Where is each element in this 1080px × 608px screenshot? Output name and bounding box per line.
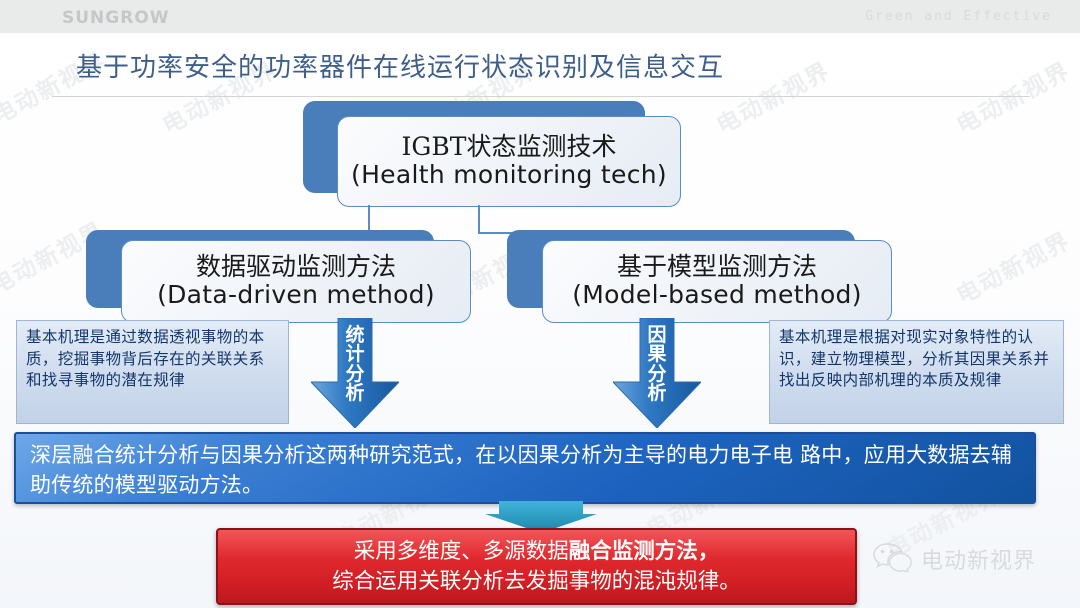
sungrow-logo: SUNGROW <box>62 8 170 28</box>
statistical-analysis-arrow: 统 计 分 析 <box>311 318 399 428</box>
page-title: 基于功率安全的功率器件在线运行状态识别及信息交互 <box>76 47 724 84</box>
header-tagline: Green and Effective <box>865 9 1052 24</box>
connector-right-vertical <box>478 205 480 233</box>
title-divider <box>52 96 1030 97</box>
red-banner-line1: 采用多维度、多源数据融合监测方法， <box>354 537 720 567</box>
red-conclusion-banner: 采用多维度、多源数据融合监测方法， 综合运用关联分析去发掘事物的混沌规律。 <box>216 528 857 605</box>
root-box-title-cn: IGBT状态监测技术 <box>402 133 617 161</box>
wechat-badge: 电动新视界 <box>872 540 1036 577</box>
arrow-char: 析 <box>613 384 701 403</box>
left-box-title-en: (Data-driven method) <box>157 281 435 310</box>
left-note-panel: 基本机理是通过数据透视事物的本质，挖掘事物背后存在的关联关系和找寻事物的潜在规律 <box>16 320 289 424</box>
connector-left-vertical <box>368 205 370 233</box>
right-note-panel: 基本机理是根据对现实对象特性的认识，建立物理模型，分析其因果关系并找出反映内部机… <box>769 320 1064 424</box>
arrow-char: 计 <box>311 345 399 364</box>
arrow-char: 析 <box>311 384 399 403</box>
root-box-title-en: (Health monitoring tech) <box>351 161 667 190</box>
arrow-char: 果 <box>613 345 701 364</box>
statistical-analysis-label: 统 计 分 析 <box>311 326 399 404</box>
left-box-title-cn: 数据驱动监测方法 <box>196 253 396 281</box>
root-box[interactable]: IGBT状态监测技术 (Health monitoring tech) <box>337 116 681 207</box>
watermark: 电动新视界 <box>949 222 1075 311</box>
header-bar: SUNGROW Green and Effective <box>0 0 1080 34</box>
wechat-account-name: 电动新视界 <box>921 543 1036 575</box>
wechat-icon <box>872 540 912 577</box>
red-banner-line1-emphasis: 融合监测方法， <box>569 539 720 564</box>
right-box-title-cn: 基于模型监测方法 <box>617 253 817 281</box>
red-banner-line2: 综合运用关联分析去发掘事物的混沌规律。 <box>332 567 741 597</box>
right-method-box[interactable]: 基于模型监测方法 (Model-based method) <box>542 240 892 323</box>
causal-analysis-label: 因 果 分 析 <box>613 326 701 404</box>
slide-canvas: SUNGROW Green and Effective 电动新视界 电动新视界 … <box>0 0 1080 608</box>
red-banner-line1-part1: 采用多维度、多源数据 <box>354 539 569 564</box>
causal-analysis-arrow: 因 果 分 析 <box>613 318 701 428</box>
right-box-title-en: (Model-based method) <box>572 281 862 310</box>
left-method-box[interactable]: 数据驱动监测方法 (Data-driven method) <box>121 240 471 323</box>
blue-summary-banner: 深层融合统计分析与因果分析这两种研究范式，在以因果分析为主导的电力电子电 路中，… <box>14 432 1036 504</box>
